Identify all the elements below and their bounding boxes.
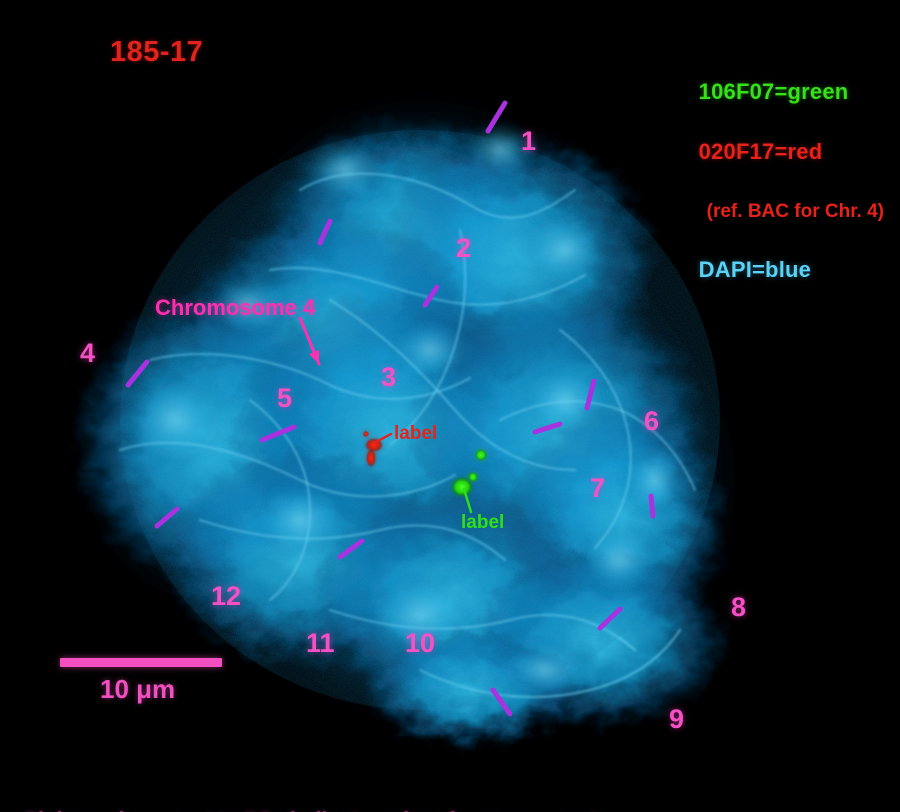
specimen-title: 185-17 bbox=[110, 36, 203, 68]
sc-number-8: 8 bbox=[731, 592, 746, 622]
micrograph-figure: 185-17 106F07=green 020F17=red (ref. BAC… bbox=[0, 0, 900, 812]
sc-number-1: 1 bbox=[521, 126, 536, 156]
sc-tick-7 bbox=[651, 496, 653, 516]
red-fish-blob-2 bbox=[366, 449, 376, 467]
sc-number-12: 12 bbox=[211, 581, 241, 611]
caption-line-1: Pink numbers next to SCs indicate order … bbox=[24, 806, 603, 812]
sc-number-3: 3 bbox=[381, 362, 396, 392]
green-fish-blob-2 bbox=[468, 472, 478, 482]
legend-probe-red: 020F17=red bbox=[699, 140, 884, 165]
sc-number-10: 10 bbox=[405, 628, 435, 658]
sc-number-4: 4 bbox=[80, 338, 95, 368]
nucleus-grain bbox=[120, 130, 720, 710]
scale-bar bbox=[60, 658, 222, 667]
sc-number-11: 11 bbox=[306, 628, 335, 658]
chromosome-4-annotation: Chromosome 4 bbox=[155, 296, 315, 321]
legend-probe-green: 106F07=green bbox=[699, 80, 884, 105]
scale-bar-label: 10 μm bbox=[100, 675, 175, 704]
channel-legend: 106F07=green 020F17=red (ref. BAC for Ch… bbox=[699, 44, 884, 318]
green-signal-label: label bbox=[461, 512, 504, 533]
legend-counterstain: DAPI=blue bbox=[699, 258, 884, 283]
red-signal-label: label bbox=[394, 423, 437, 444]
sc-number-7: 7 bbox=[590, 473, 605, 503]
sc-number-9: 9 bbox=[669, 704, 684, 734]
legend-probe-red-note: (ref. BAC for Chr. 4) bbox=[699, 201, 884, 222]
red-fish-blob-0 bbox=[363, 431, 369, 437]
sc-number-5: 5 bbox=[277, 383, 292, 413]
sc-number-6: 6 bbox=[644, 406, 659, 436]
green-fish-blob-0 bbox=[475, 449, 487, 461]
figure-caption: Pink numbers next to SCs indicate order … bbox=[24, 745, 603, 812]
sc-number-2: 2 bbox=[456, 233, 471, 263]
